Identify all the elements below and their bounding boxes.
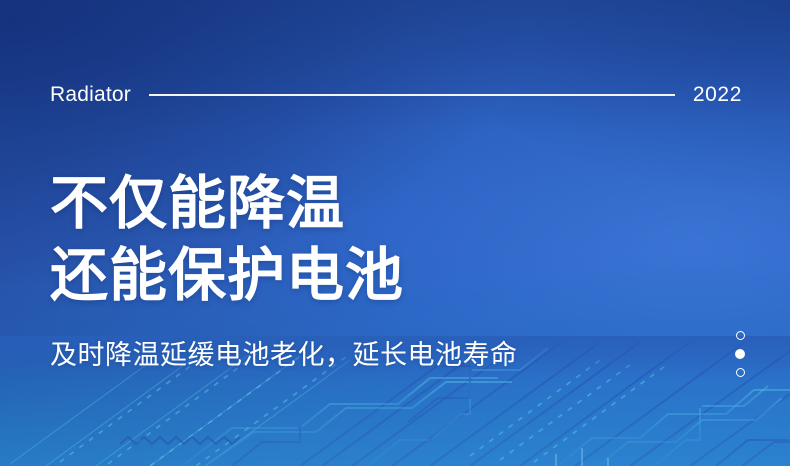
headline-line-1: 不仅能降温 [50,168,404,240]
eyebrow-row: Radiator 2022 [50,80,742,110]
subtitle: 及时降温延缓电池老化，延长电池寿命 [50,336,518,374]
eyebrow-year: 2022 [693,83,742,107]
page-title: 不仅能降温 还能保护电池 [50,168,404,312]
pagination-dot-2-active[interactable] [735,349,745,359]
pagination-dot-3[interactable] [736,368,745,377]
eyebrow-divider-line [149,94,675,96]
eyebrow-label: Radiator [50,83,131,107]
pagination-dots[interactable] [735,331,745,377]
headline-line-2: 还能保护电池 [50,240,404,312]
pagination-dot-1[interactable] [736,331,745,340]
promo-banner: Radiator 2022 不仅能降温 还能保护电池 及时降温延缓电池老化，延长… [0,0,790,466]
